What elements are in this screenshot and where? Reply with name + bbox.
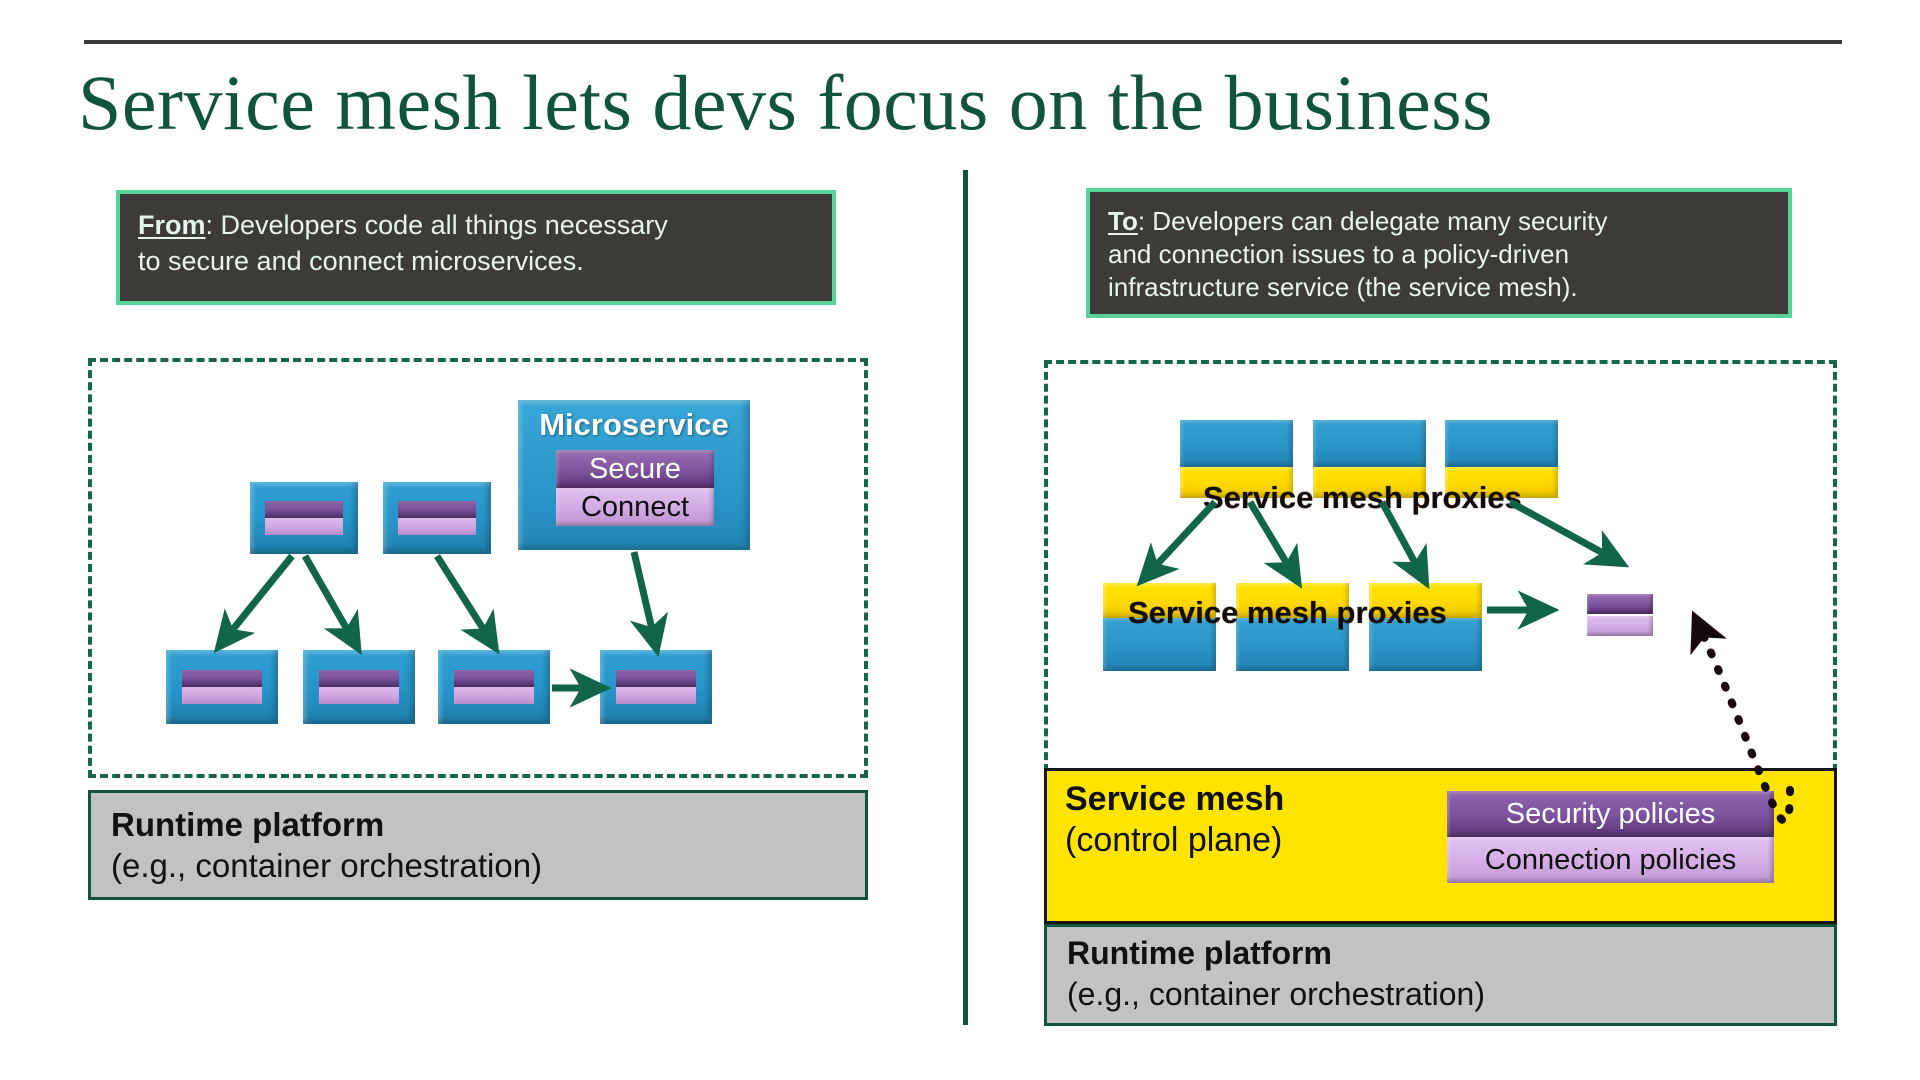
node-connect-bar [319, 687, 400, 704]
proxy-app-segment [1445, 420, 1558, 467]
page-title: Service mesh lets devs focus on the busi… [78, 56, 1778, 150]
node-secure-bar [398, 501, 476, 518]
security-policies-bar: Security policies [1447, 791, 1774, 837]
node-connect-bar [398, 518, 476, 535]
left-platform-title: Runtime platform [111, 805, 865, 845]
secure-bar-label: Secure [556, 450, 714, 488]
node-secure-bar [454, 670, 535, 687]
microservice-node [600, 650, 712, 724]
injected-security-policy-bar [1587, 594, 1653, 614]
node-connect-bar [616, 687, 697, 704]
microservice-title: Microservice [518, 407, 750, 443]
left-caption-line1: : Developers code all things necessary [206, 210, 668, 240]
right-caption-lead: To [1108, 206, 1138, 236]
left-caption-line2: to secure and connect microservices. [138, 246, 584, 276]
microservice-node [438, 650, 550, 724]
node-secure-bar [319, 670, 400, 687]
right-caption-line3: infrastructure service (the service mesh… [1108, 272, 1578, 302]
service-mesh-control-plane: Service mesh (control plane) Security po… [1044, 768, 1837, 924]
proxy-app-segment [1313, 420, 1426, 467]
node-secure-bar [182, 670, 263, 687]
left-runtime-platform: Runtime platform (e.g., container orches… [88, 790, 868, 900]
node-secure-bar [265, 501, 343, 518]
proxy-app-segment [1180, 420, 1293, 467]
proxy-label-top: Service mesh proxies [1203, 480, 1522, 516]
proxy-label-mid: Service mesh proxies [1128, 595, 1447, 631]
slide-canvas: Service mesh lets devs focus on the busi… [0, 0, 1920, 1080]
microservice-node [166, 650, 278, 724]
node-connect-bar [454, 687, 535, 704]
header-rule [84, 40, 1842, 44]
right-caption-line1: : Developers can delegate many security [1138, 206, 1608, 236]
center-divider [963, 170, 968, 1025]
connection-policies-bar: Connection policies [1447, 837, 1774, 883]
left-caption-box: From: Developers code all things necessa… [116, 190, 836, 305]
microservice-node [250, 482, 358, 554]
policy-injected-proxy-node [1549, 568, 1721, 734]
microservice-node [383, 482, 491, 554]
microservice-detail-box: Microservice Secure Connect [518, 400, 750, 550]
left-caption-lead: From [138, 210, 206, 240]
connect-bar-label: Connect [556, 488, 714, 526]
right-platform-title: Runtime platform [1067, 933, 1834, 973]
proxy-app-segment [1549, 664, 1721, 734]
node-connect-bar [182, 687, 263, 704]
control-plane-subtitle: (control plane) [1065, 821, 1282, 860]
control-plane-title: Service mesh [1065, 780, 1284, 819]
left-platform-subtitle: (e.g., container orchestration) [111, 845, 865, 887]
right-runtime-platform: Runtime platform (e.g., container orches… [1044, 924, 1837, 1026]
right-caption-box: To: Developers can delegate many securit… [1086, 188, 1792, 318]
microservice-node [303, 650, 415, 724]
node-secure-bar [616, 670, 697, 687]
right-caption-line2: and connection issues to a policy-driven [1108, 239, 1569, 269]
node-connect-bar [265, 518, 343, 535]
injected-connection-policy-bar [1587, 616, 1653, 636]
right-platform-subtitle: (e.g., container orchestration) [1067, 973, 1834, 1015]
